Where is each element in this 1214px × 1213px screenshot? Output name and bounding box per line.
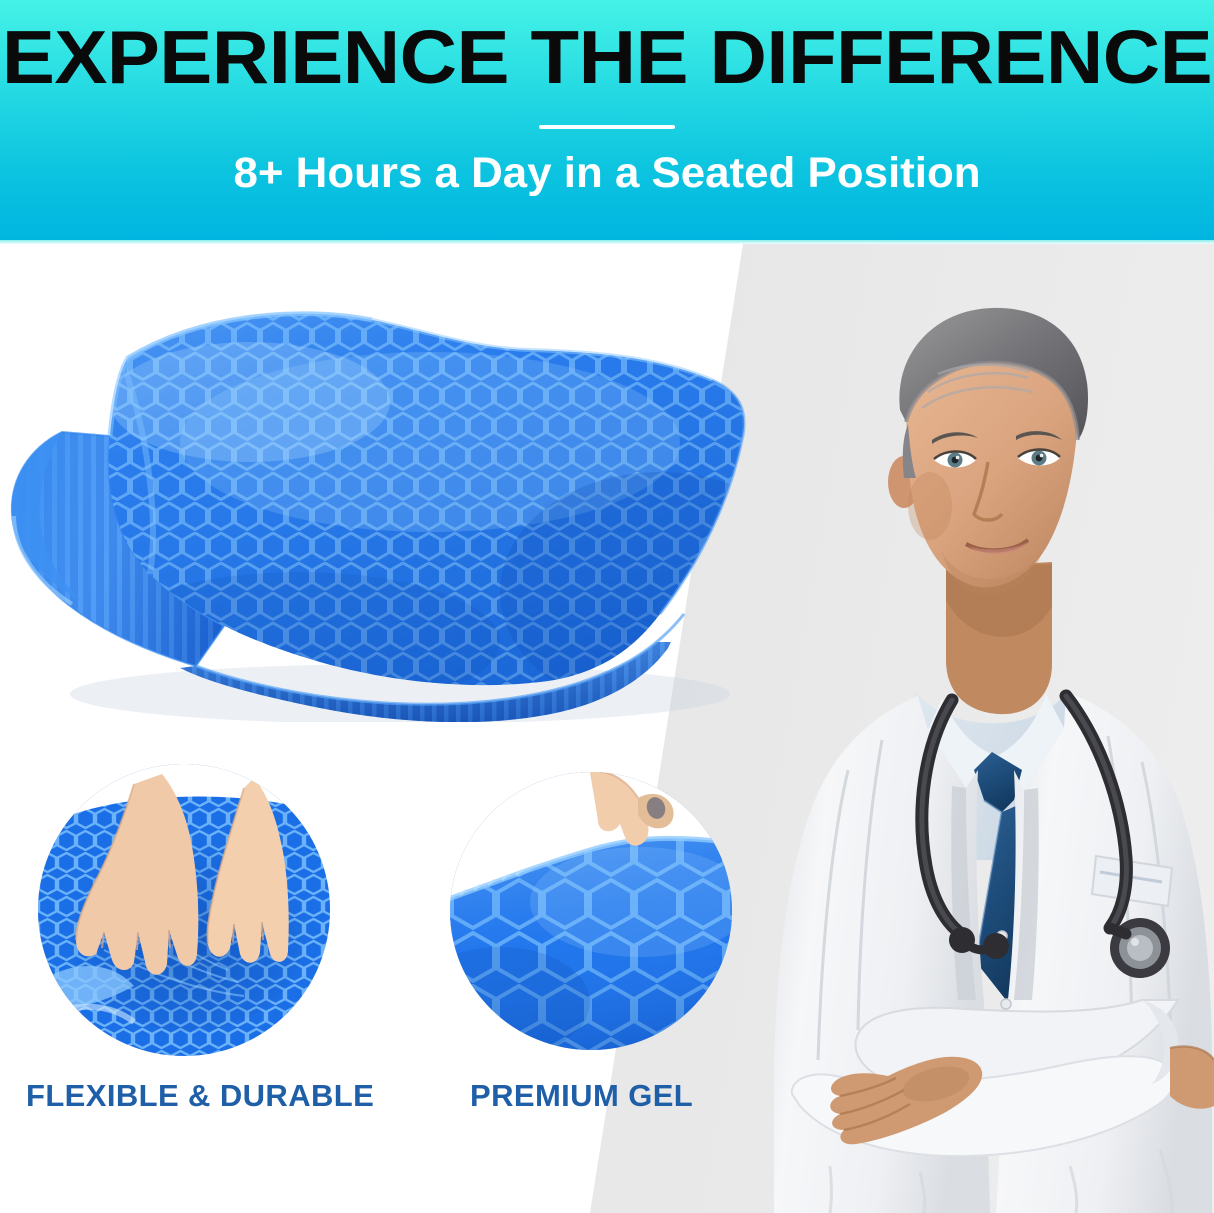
header-banner: EXPERIENCE THE DIFFERENCE 8+ Hours a Day… [0, 0, 1214, 240]
feature-caption-premium-gel: PREMIUM GEL [470, 1078, 693, 1114]
feature-caption-flexible-durable: FLEXIBLE & DURABLE [26, 1078, 374, 1114]
title-divider [539, 125, 675, 129]
feature-image-flexible-durable [38, 764, 330, 1056]
feature-image-premium-gel [450, 772, 732, 1050]
gel-cushion-image [0, 262, 780, 722]
product-infographic: EXPERIENCE THE DIFFERENCE 8+ Hours a Day… [0, 0, 1214, 1213]
doctor-head [888, 308, 1088, 594]
doctor-image [770, 300, 1214, 1213]
page-subtitle: 8+ Hours a Day in a Seated Position [0, 145, 1214, 201]
page-title: EXPERIENCE THE DIFFERENCE [0, 12, 1214, 102]
header-underline [0, 240, 1214, 244]
